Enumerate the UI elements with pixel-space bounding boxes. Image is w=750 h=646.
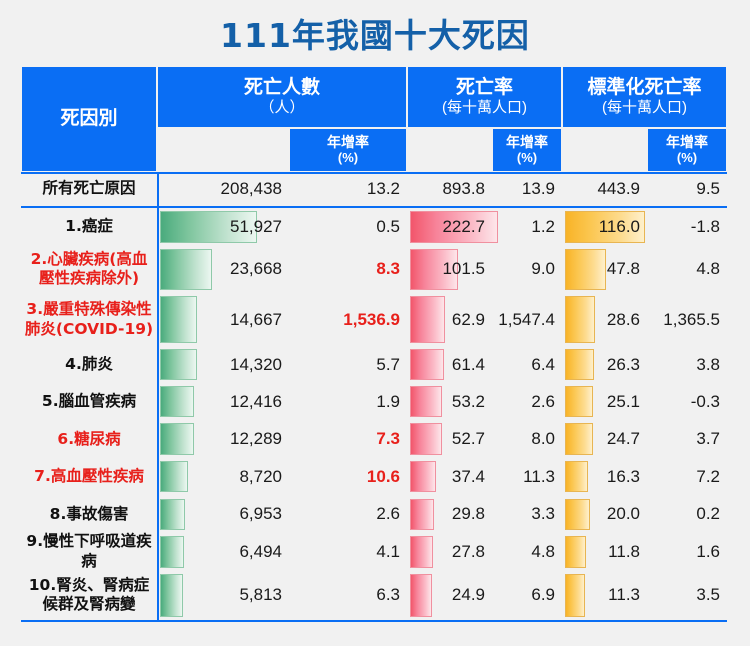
vertical-divider-body: [157, 208, 159, 620]
std-rate-value: 26.3: [565, 346, 647, 383]
rate-value: 222.7: [410, 208, 492, 246]
std-rate-growth-value: 3.8: [647, 346, 727, 383]
std-rate-bar-cell: 28.6: [565, 293, 647, 346]
table-row[interactable]: 5.腦血管疾病12,4161.953.22.625.1-0.3: [21, 383, 727, 421]
table-row[interactable]: 7.高血壓性疾病8,72010.637.411.316.37.2: [21, 458, 727, 496]
std-rate-value: 24.7: [565, 420, 647, 458]
deaths-bar-cell: 5,813: [160, 571, 289, 620]
deaths-bar-cell: 6,953: [160, 496, 289, 534]
deaths-value: 14,667: [160, 293, 289, 346]
total-deaths-growth: 13.2: [289, 172, 407, 206]
std-rate-growth-value: 1.6: [647, 533, 727, 571]
row-cause-label: 7.高血壓性疾病: [21, 458, 157, 496]
deaths-growth-value: 10.6: [289, 458, 407, 496]
table-row[interactable]: 3.嚴重特殊傳染性肺炎(COVID-19)14,6671,536.962.91,…: [21, 293, 727, 346]
std-rate-bar-cell: 11.3: [565, 571, 647, 620]
row-cause-label: 3.嚴重特殊傳染性肺炎(COVID-19): [21, 293, 157, 346]
std-rate-value: 116.0: [565, 208, 647, 246]
header-std-rate-growth: 年增率 (%): [647, 128, 727, 172]
total-deaths: 208,438: [157, 172, 289, 206]
deaths-value: 6,953: [160, 496, 289, 534]
row-cause-label: 2.心臟疾病(高血壓性疾病除外): [21, 246, 157, 293]
rate-growth-value: 11.3: [492, 458, 562, 496]
deaths-value: 23,668: [160, 246, 289, 293]
deaths-bar-cell: 12,289: [160, 420, 289, 458]
deaths-growth-value: 5.7: [289, 346, 407, 383]
rate-value: 53.2: [410, 383, 492, 421]
rate-value: 62.9: [410, 293, 492, 346]
rate-value: 52.7: [410, 420, 492, 458]
deaths-growth-value: 0.5: [289, 208, 407, 246]
header-cause: 死因別: [21, 66, 157, 172]
std-rate-value: 20.0: [565, 496, 647, 534]
table-row[interactable]: 6.糖尿病12,2897.352.78.024.73.7: [21, 420, 727, 458]
rate-growth-value: 8.0: [492, 420, 562, 458]
table-body: 1.癌症51,9270.5222.71.2116.0-1.82.心臟疾病(高血壓…: [21, 208, 727, 620]
rate-growth-value: 9.0: [492, 246, 562, 293]
std-rate-value: 47.8: [565, 246, 647, 293]
divider-bottom: [21, 620, 727, 622]
std-rate-bar-cell: 11.8: [565, 533, 647, 571]
std-rate-growth-value: 3.5: [647, 571, 727, 620]
table-row[interactable]: 4.肺炎14,3205.761.46.426.33.8: [21, 346, 727, 383]
rate-value: 37.4: [410, 458, 492, 496]
total-rate-growth: 13.9: [492, 172, 562, 206]
rate-bar-cell: 27.8: [410, 533, 492, 571]
rate-bar-cell: 62.9: [410, 293, 492, 346]
deaths-value: 6,494: [160, 533, 289, 571]
rate-growth-value: 3.3: [492, 496, 562, 534]
mortality-table: 死因別 死亡人數 （人） 年增率 (%) 死亡率 (每十萬人口) 年增率 (%)…: [21, 66, 727, 622]
header-deaths-growth: 年增率 (%): [289, 128, 407, 172]
deaths-growth-value: 4.1: [289, 533, 407, 571]
deaths-value: 5,813: [160, 571, 289, 620]
table-row[interactable]: 9.慢性下呼吸道疾病6,4944.127.84.811.81.6: [21, 533, 727, 571]
rate-bar-cell: 37.4: [410, 458, 492, 496]
total-rate: 893.8: [407, 172, 492, 206]
table-row[interactable]: 10.腎炎、腎病症候群及腎病變5,8136.324.96.911.33.5: [21, 571, 727, 620]
vertical-divider-total: [157, 172, 159, 208]
std-rate-bar-cell: 116.0: [565, 208, 647, 246]
rate-bar-cell: 24.9: [410, 571, 492, 620]
deaths-bar-cell: 8,720: [160, 458, 289, 496]
rate-value: 24.9: [410, 571, 492, 620]
rate-bar-cell: 101.5: [410, 246, 492, 293]
std-rate-growth-value: 3.7: [647, 420, 727, 458]
deaths-growth-value: 7.3: [289, 420, 407, 458]
deaths-growth-value: 1.9: [289, 383, 407, 421]
deaths-growth-value: 2.6: [289, 496, 407, 534]
rate-value: 29.8: [410, 496, 492, 534]
rate-bar-cell: 52.7: [410, 420, 492, 458]
deaths-bar-cell: 51,927: [160, 208, 289, 246]
total-row: 所有死亡原因 208,438 13.2 893.8 13.9 443.9 9.5: [21, 172, 727, 206]
row-cause-label: 5.腦血管疾病: [21, 383, 157, 421]
std-rate-bar-cell: 25.1: [565, 383, 647, 421]
deaths-value: 51,927: [160, 208, 289, 246]
row-cause-label: 6.糖尿病: [21, 420, 157, 458]
std-rate-growth-value: 1,365.5: [647, 293, 727, 346]
rate-value: 101.5: [410, 246, 492, 293]
row-cause-label: 1.癌症: [21, 208, 157, 246]
std-rate-value: 16.3: [565, 458, 647, 496]
page-title: 111年我國十大死因: [0, 14, 750, 58]
std-rate-bar-cell: 20.0: [565, 496, 647, 534]
rate-bar-cell: 29.8: [410, 496, 492, 534]
total-std-rate-growth: 9.5: [647, 172, 727, 206]
infographic-page: 111年我國十大死因 死因別 死亡人數 （人） 年增率 (%) 死亡率 (每十萬…: [0, 0, 750, 646]
rate-value: 61.4: [410, 346, 492, 383]
rate-bar-cell: 222.7: [410, 208, 492, 246]
deaths-value: 8,720: [160, 458, 289, 496]
std-rate-growth-value: -0.3: [647, 383, 727, 421]
divider-top: [21, 172, 727, 174]
deaths-growth-value: 1,536.9: [289, 293, 407, 346]
rate-value: 27.8: [410, 533, 492, 571]
table-row[interactable]: 1.癌症51,9270.5222.71.2116.0-1.8: [21, 208, 727, 246]
std-rate-bar-cell: 24.7: [565, 420, 647, 458]
rate-bar-cell: 61.4: [410, 346, 492, 383]
deaths-bar-cell: 23,668: [160, 246, 289, 293]
deaths-value: 14,320: [160, 346, 289, 383]
row-cause-label: 9.慢性下呼吸道疾病: [21, 533, 157, 571]
deaths-growth-value: 6.3: [289, 571, 407, 620]
header-deaths: 死亡人數 （人）: [157, 66, 407, 128]
std-rate-bar-cell: 16.3: [565, 458, 647, 496]
deaths-bar-cell: 12,416: [160, 383, 289, 421]
std-rate-value: 11.8: [565, 533, 647, 571]
deaths-bar-cell: 6,494: [160, 533, 289, 571]
std-rate-growth-value: 7.2: [647, 458, 727, 496]
deaths-bar-cell: 14,320: [160, 346, 289, 383]
deaths-value: 12,416: [160, 383, 289, 421]
rate-growth-value: 2.6: [492, 383, 562, 421]
std-rate-bar-cell: 47.8: [565, 246, 647, 293]
deaths-growth-value: 8.3: [289, 246, 407, 293]
header-std-rate: 標準化死亡率 (每十萬人口): [562, 66, 727, 128]
std-rate-value: 25.1: [565, 383, 647, 421]
std-rate-growth-value: 4.8: [647, 246, 727, 293]
header-rate: 死亡率 (每十萬人口): [407, 66, 562, 128]
rate-growth-value: 4.8: [492, 533, 562, 571]
std-rate-bar-cell: 26.3: [565, 346, 647, 383]
row-cause-label: 4.肺炎: [21, 346, 157, 383]
table-header: 死因別 死亡人數 （人） 年增率 (%) 死亡率 (每十萬人口) 年增率 (%)…: [21, 66, 727, 172]
rate-growth-value: 1.2: [492, 208, 562, 246]
std-rate-growth-value: -1.8: [647, 208, 727, 246]
deaths-bar-cell: 14,667: [160, 293, 289, 346]
table-row[interactable]: 2.心臟疾病(高血壓性疾病除外)23,6688.3101.59.047.84.8: [21, 246, 727, 293]
row-cause-label: 8.事故傷害: [21, 496, 157, 534]
deaths-value: 12,289: [160, 420, 289, 458]
rate-bar-cell: 53.2: [410, 383, 492, 421]
total-std-rate: 443.9: [562, 172, 647, 206]
table-row[interactable]: 8.事故傷害6,9532.629.83.320.00.2: [21, 496, 727, 534]
row-cause-label: 10.腎炎、腎病症候群及腎病變: [21, 571, 157, 620]
std-rate-growth-value: 0.2: [647, 496, 727, 534]
std-rate-value: 28.6: [565, 293, 647, 346]
rate-growth-value: 1,547.4: [492, 293, 562, 346]
header-rate-growth: 年增率 (%): [492, 128, 562, 172]
total-row-label: 所有死亡原因: [21, 172, 157, 206]
rate-growth-value: 6.4: [492, 346, 562, 383]
rate-growth-value: 6.9: [492, 571, 562, 620]
std-rate-value: 11.3: [565, 571, 647, 620]
